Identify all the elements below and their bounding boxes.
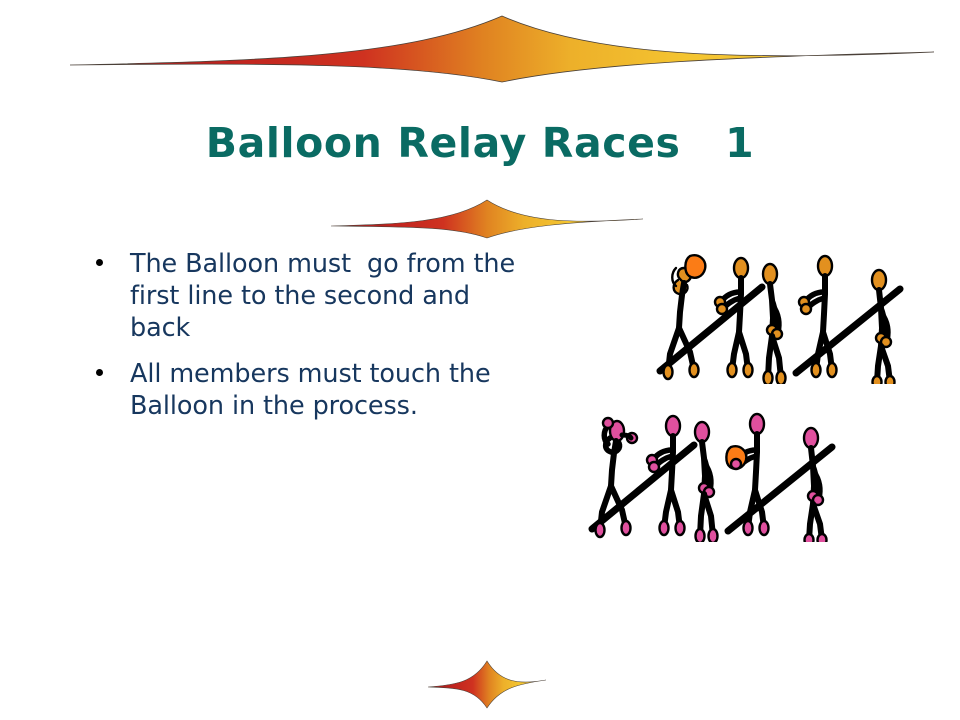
bullet-list: The Balloon must go from the first line … bbox=[96, 248, 526, 436]
balloon-icon bbox=[685, 255, 705, 277]
stick-figure bbox=[799, 256, 837, 377]
stick-figure bbox=[664, 255, 706, 379]
stick-figure bbox=[763, 264, 786, 384]
relay-team-pink-clipart bbox=[584, 390, 852, 542]
bullet-dot-icon bbox=[96, 248, 130, 266]
relay-team-orange-clipart bbox=[652, 232, 920, 384]
page-title: Balloon Relay Races 1 bbox=[0, 119, 960, 167]
stick-figure bbox=[872, 270, 895, 384]
slide-canvas: Balloon Relay Races 1 The Balloon must g… bbox=[0, 0, 960, 720]
list-item: All members must touch the Balloon in th… bbox=[96, 358, 526, 422]
mid-divider-star bbox=[331, 196, 643, 242]
top-divider-star bbox=[70, 8, 934, 88]
bottom-divider-star bbox=[428, 658, 546, 720]
bullet-text: All members must touch the Balloon in th… bbox=[130, 358, 526, 422]
bullet-dot-icon bbox=[96, 358, 130, 376]
list-item: The Balloon must go from the first line … bbox=[96, 248, 526, 344]
stick-figure bbox=[726, 414, 768, 535]
stick-figure bbox=[596, 418, 638, 537]
bullet-text: The Balloon must go from the first line … bbox=[130, 248, 526, 344]
stick-figure bbox=[695, 422, 718, 542]
stick-figure bbox=[804, 428, 827, 542]
